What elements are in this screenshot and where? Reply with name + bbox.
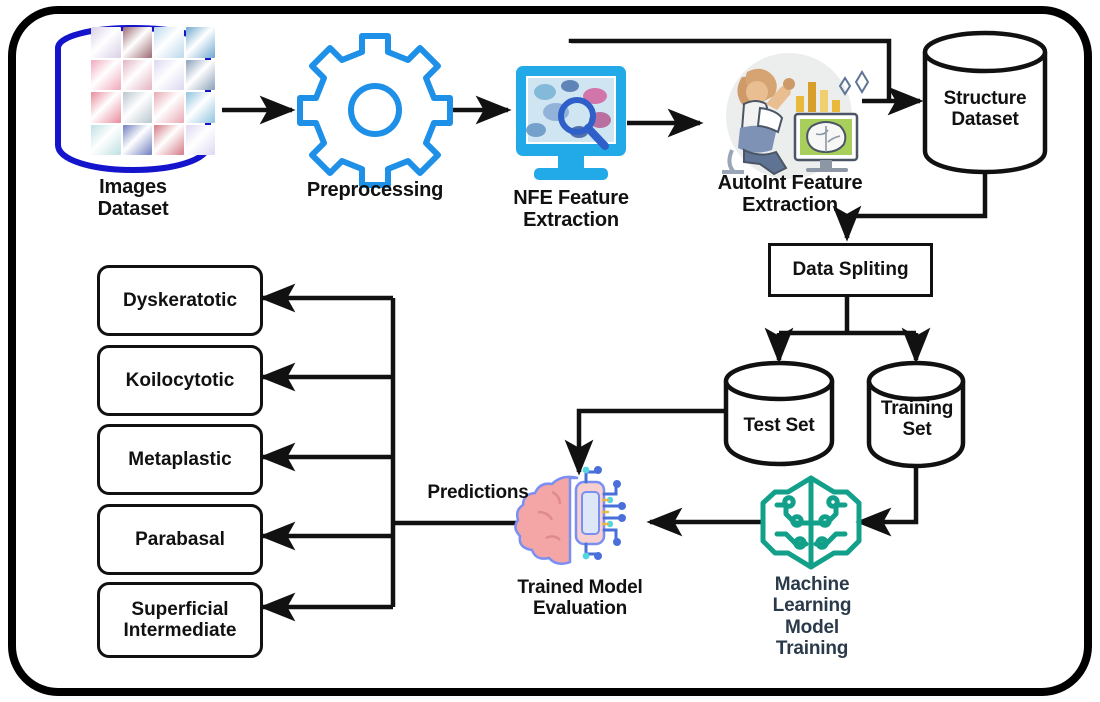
test-set-label: Test Set: [729, 415, 829, 436]
ai-brain-chip-icon: [515, 466, 626, 564]
class-box-metaplastic[interactable]: Metaplastic: [97, 424, 263, 495]
dataset-thumbnail: [154, 125, 184, 156]
gear-icon: [300, 36, 450, 185]
edge-training-to-ml: [859, 466, 916, 522]
images-dataset-thumbnails: [91, 27, 215, 155]
dataset-thumbnail: [186, 60, 216, 91]
ml-training-label: Machine Learning Model Training: [753, 574, 871, 659]
predictions-label: Predictions: [418, 482, 538, 503]
edge-splitting-to-test: [779, 333, 916, 360]
test-set-cylinder: [726, 363, 832, 464]
dataset-thumbnail: [91, 92, 121, 123]
structure-dataset-label: Structure Dataset: [925, 88, 1045, 131]
class-box-superficial-intermediate[interactable]: Superficial Intermediate: [97, 582, 263, 658]
preprocessing-label: Preprocessing: [280, 179, 470, 201]
class-box-parabasal[interactable]: Parabasal: [97, 504, 263, 575]
dataset-thumbnail: [123, 60, 153, 91]
dataset-thumbnail: [154, 27, 184, 58]
dataset-thumbnail: [154, 60, 184, 91]
analyst-workstation-icon: [722, 53, 868, 179]
dataset-thumbnail: [186, 27, 216, 58]
autoint-label: AutoInt Feature Extraction: [692, 172, 888, 217]
images-dataset-label: Images Dataset: [48, 176, 218, 221]
dataset-thumbnail: [91, 27, 121, 58]
edge-test-to-trained-model: [579, 411, 726, 472]
class-box-koilocytotic[interactable]: Koilocytotic: [97, 345, 263, 416]
dataset-thumbnail: [91, 60, 121, 91]
data-splitting-box[interactable]: Data Spliting: [768, 243, 933, 297]
dataset-thumbnail: [186, 125, 216, 156]
circuit-brain-icon: [763, 478, 859, 567]
nfe-label: NFE Feature Extraction: [488, 187, 654, 232]
trained-model-label: Trained Model Evaluation: [491, 577, 669, 620]
class-box-dyskeratotic[interactable]: Dyskeratotic: [97, 265, 263, 336]
training-set-label: Training Set: [872, 398, 962, 441]
dataset-thumbnail: [123, 27, 153, 58]
diagram-canvas: Images Dataset Preprocessing NFE Feature…: [0, 0, 1100, 702]
dataset-thumbnail: [154, 92, 184, 123]
dataset-thumbnail: [123, 92, 153, 123]
dataset-thumbnail: [123, 125, 153, 156]
monitor-magnifier-icon: [516, 66, 626, 180]
dataset-thumbnail: [186, 92, 216, 123]
dataset-thumbnail: [91, 125, 121, 156]
